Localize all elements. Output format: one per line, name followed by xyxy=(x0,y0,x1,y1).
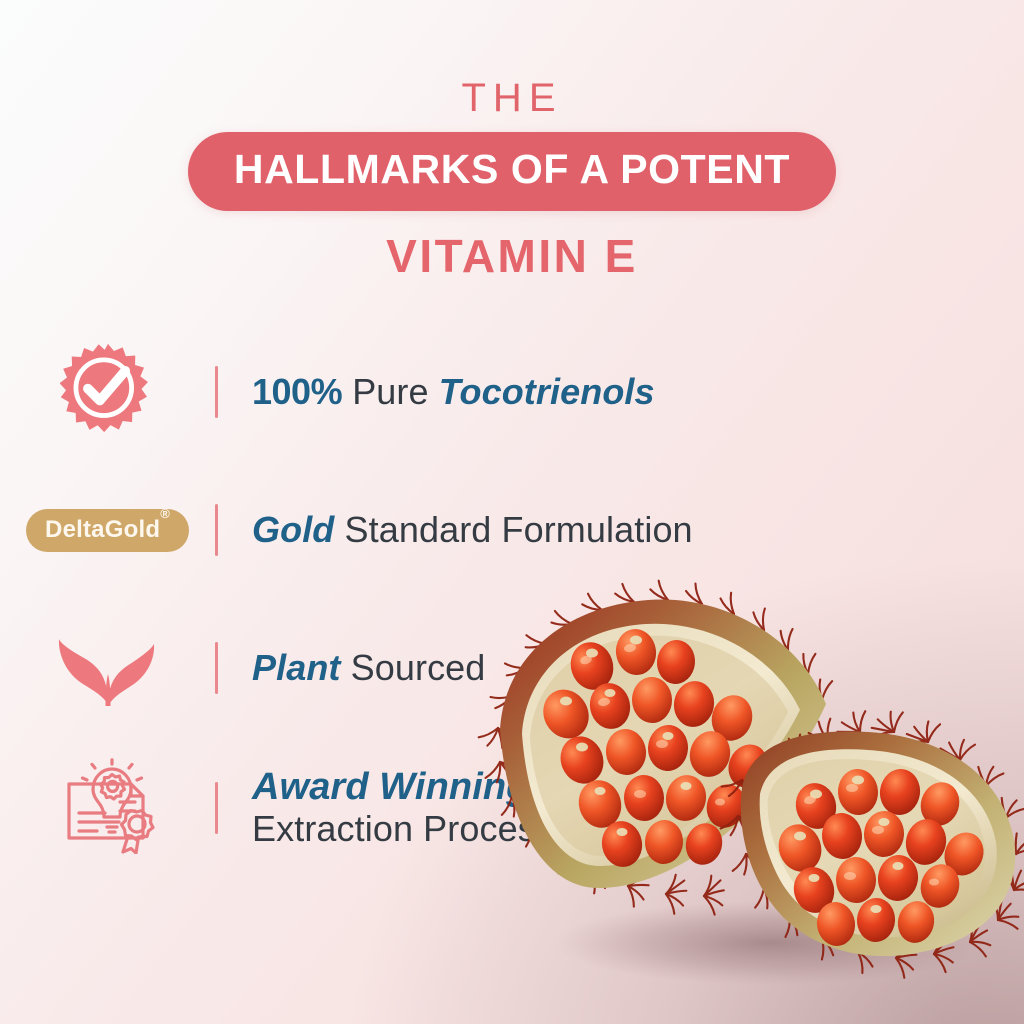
header-subtitle: VITAMIN E xyxy=(0,233,1024,279)
leaf-icon xyxy=(58,624,158,713)
feature-second-line: Extraction Process xyxy=(252,809,554,849)
feature-accent-text: Award Winning xyxy=(252,766,530,808)
feature-plain-text: Sourced xyxy=(351,647,486,688)
feature-label: Award Winning Extraction Process xyxy=(252,767,554,848)
feature-divider xyxy=(215,366,218,418)
feature-icon-cell xyxy=(0,758,215,859)
promo-graphic-canvas: THE HALLMARKS OF A POTENT VITAMIN E xyxy=(0,0,1024,1024)
feature-accent-text: Gold xyxy=(252,509,334,550)
header-eyebrow: THE xyxy=(0,78,1024,118)
feature-divider xyxy=(215,782,218,834)
feature-label: 100% Pure Tocotrienols xyxy=(252,371,655,413)
header-pill: HALLMARKS OF A POTENT xyxy=(188,132,836,211)
verified-badge-check-icon xyxy=(60,342,156,443)
feature-icon-cell xyxy=(0,342,215,443)
header-pill-wrapper: HALLMARKS OF A POTENT xyxy=(0,132,1024,211)
feature-label: Plant Sourced xyxy=(252,647,485,689)
registered-trademark-icon: ® xyxy=(160,506,170,521)
feature-number: 100% xyxy=(252,371,342,412)
feature-plain-text: Standard Formulation xyxy=(345,509,693,550)
deltagold-badge: DeltaGold® xyxy=(26,509,189,552)
feature-row-award-winning: Award Winning Extraction Process xyxy=(0,752,1024,864)
feature-divider xyxy=(215,642,218,694)
deltagold-badge-name: DeltaGold xyxy=(45,516,160,543)
feature-row-plant-sourced: Plant Sourced xyxy=(0,612,1024,724)
feature-icon-cell xyxy=(0,624,215,713)
feature-divider xyxy=(215,504,218,556)
feature-list: 100% Pure Tocotrienols DeltaGold® Gold S… xyxy=(0,336,1024,864)
feature-plain-text: Pure xyxy=(352,371,428,412)
feature-accent-text: Tocotrienols xyxy=(439,371,655,412)
header-block: THE HALLMARKS OF A POTENT VITAMIN E xyxy=(0,78,1024,279)
feature-row-pure-tocotrienols: 100% Pure Tocotrienols xyxy=(0,336,1024,448)
header-pill-label: HALLMARKS OF A POTENT xyxy=(234,149,790,190)
feature-label: Gold Standard Formulation xyxy=(252,509,693,551)
feature-accent-text: Plant xyxy=(252,647,341,688)
deltagold-badge-label: DeltaGold® xyxy=(45,517,170,542)
feature-icon-cell: DeltaGold® xyxy=(0,509,215,552)
feature-row-gold-standard: DeltaGold® Gold Standard Formulation xyxy=(0,474,1024,586)
award-certificate-icon xyxy=(57,758,159,859)
